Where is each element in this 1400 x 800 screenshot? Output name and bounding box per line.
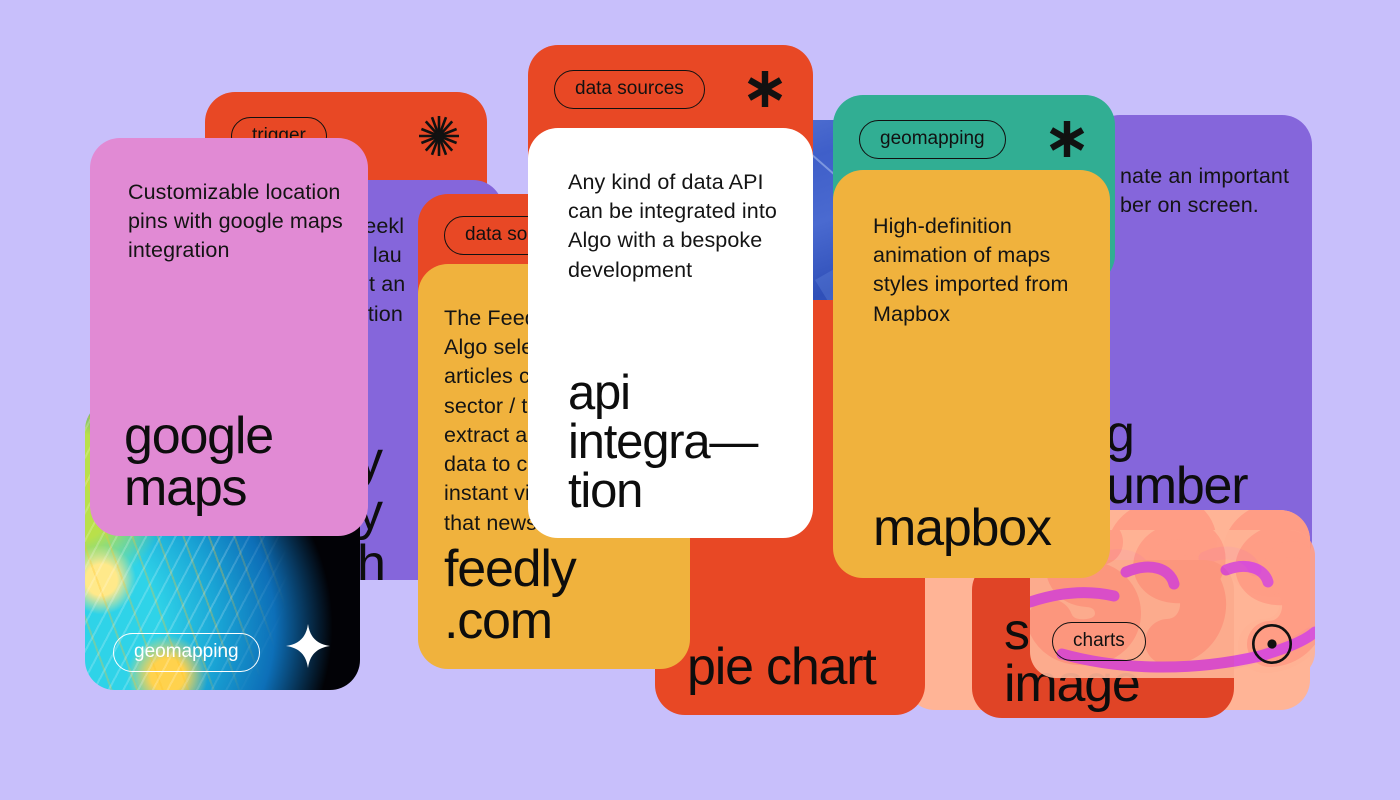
card-mapbox[interactable]: High-definition animation of maps styles… <box>833 170 1110 578</box>
card-google-maps[interactable]: Customizable location pins with google m… <box>90 138 368 536</box>
animated-number-title-line1: g <box>1106 408 1312 460</box>
asterisk-icon-top[interactable] <box>743 67 787 111</box>
api-card-header: data sources <box>528 45 813 111</box>
animated-number-title-line2: umber <box>1106 460 1312 512</box>
pill-charts-label: charts <box>1052 622 1146 661</box>
animated-number-body-line2: ber on screen. <box>1120 191 1312 220</box>
google-maps-title-line1: google <box>124 410 273 462</box>
api-integration-title-line1: api <box>568 369 757 418</box>
pill-data-sources[interactable]: data sources <box>554 70 705 109</box>
mapbox-body: High-definition animation of maps styles… <box>873 212 1083 329</box>
pill-geomapping-teal[interactable]: geomapping <box>859 120 1006 159</box>
animated-number-body-line1: nate an important <box>1120 162 1312 191</box>
mapbox-title: mapbox <box>873 502 1051 554</box>
api-integration-body: Any kind of data API can be integrated i… <box>568 168 783 285</box>
feedly-title-line1: feedly <box>444 543 576 595</box>
api-integration-title-line2: integra— <box>568 418 757 467</box>
google-maps-body: Customizable location pins with google m… <box>128 178 348 266</box>
pill-geomapping-globe: geomapping <box>113 633 260 672</box>
asterisk-icon-teal[interactable] <box>1045 117 1089 161</box>
card-api-integration[interactable]: Any kind of data API can be integrated i… <box>528 128 813 538</box>
api-integration-title-line3: tion <box>568 467 757 516</box>
circle-dot-icon[interactable] <box>1250 622 1294 666</box>
card-animated-number[interactable]: nate an important ber on screen. g umber <box>1090 115 1312 570</box>
geomapping-card-header: geomapping <box>833 95 1115 161</box>
canvas: nate an important ber on screen. g umber <box>0 0 1400 800</box>
pill-geomapping-globe-wrap[interactable]: geomapping <box>113 633 260 672</box>
google-maps-title-line2: maps <box>124 462 273 514</box>
pill-charts[interactable]: charts <box>1052 622 1146 661</box>
sunburst-icon[interactable] <box>417 114 461 158</box>
feedly-title-line2: .com <box>444 595 576 647</box>
pie-chart-title: pie chart <box>687 641 876 693</box>
sparkle-icon[interactable] <box>286 624 330 668</box>
